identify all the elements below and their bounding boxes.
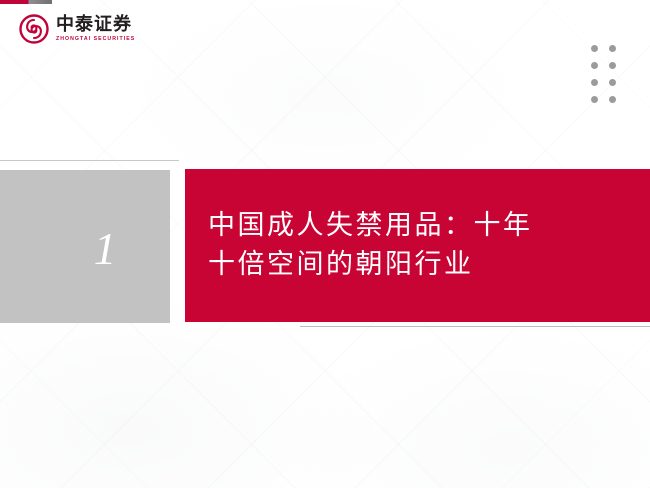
decorative-dot-grid	[591, 45, 616, 103]
dot	[609, 79, 616, 86]
dot	[591, 62, 598, 69]
divider-line-top-left	[0, 160, 179, 161]
dot	[591, 96, 598, 103]
company-logo: 中泰证券 ZHONGTAI SECURITIES	[19, 14, 135, 44]
presentation-slide: 中泰证券 ZHONGTAI SECURITIES 1 中国成人失禁用品：十年 十…	[0, 0, 650, 488]
dot	[609, 62, 616, 69]
section-number-block: 1	[0, 170, 170, 323]
logo-name-en: ZHONGTAI SECURITIES	[56, 36, 135, 42]
logo-name-cn: 中泰证券	[56, 16, 135, 35]
dot	[591, 45, 598, 52]
dot	[609, 45, 616, 52]
section-number: 1	[94, 227, 117, 272]
section-title-line-2: 十倍空间的朝阳行业	[185, 246, 650, 284]
logo-wordmark: 中泰证券 ZHONGTAI SECURITIES	[56, 16, 135, 43]
dot	[609, 96, 616, 103]
top-left-accent-bar	[0, 0, 52, 4]
dot	[591, 79, 598, 86]
zhongtai-circular-emblem-icon	[19, 14, 49, 44]
section-title-line-1: 中国成人失禁用品：十年	[185, 207, 650, 245]
divider-line-bottom-right	[300, 326, 650, 327]
section-title-banner: 中国成人失禁用品：十年 十倍空间的朝阳行业	[185, 169, 650, 322]
